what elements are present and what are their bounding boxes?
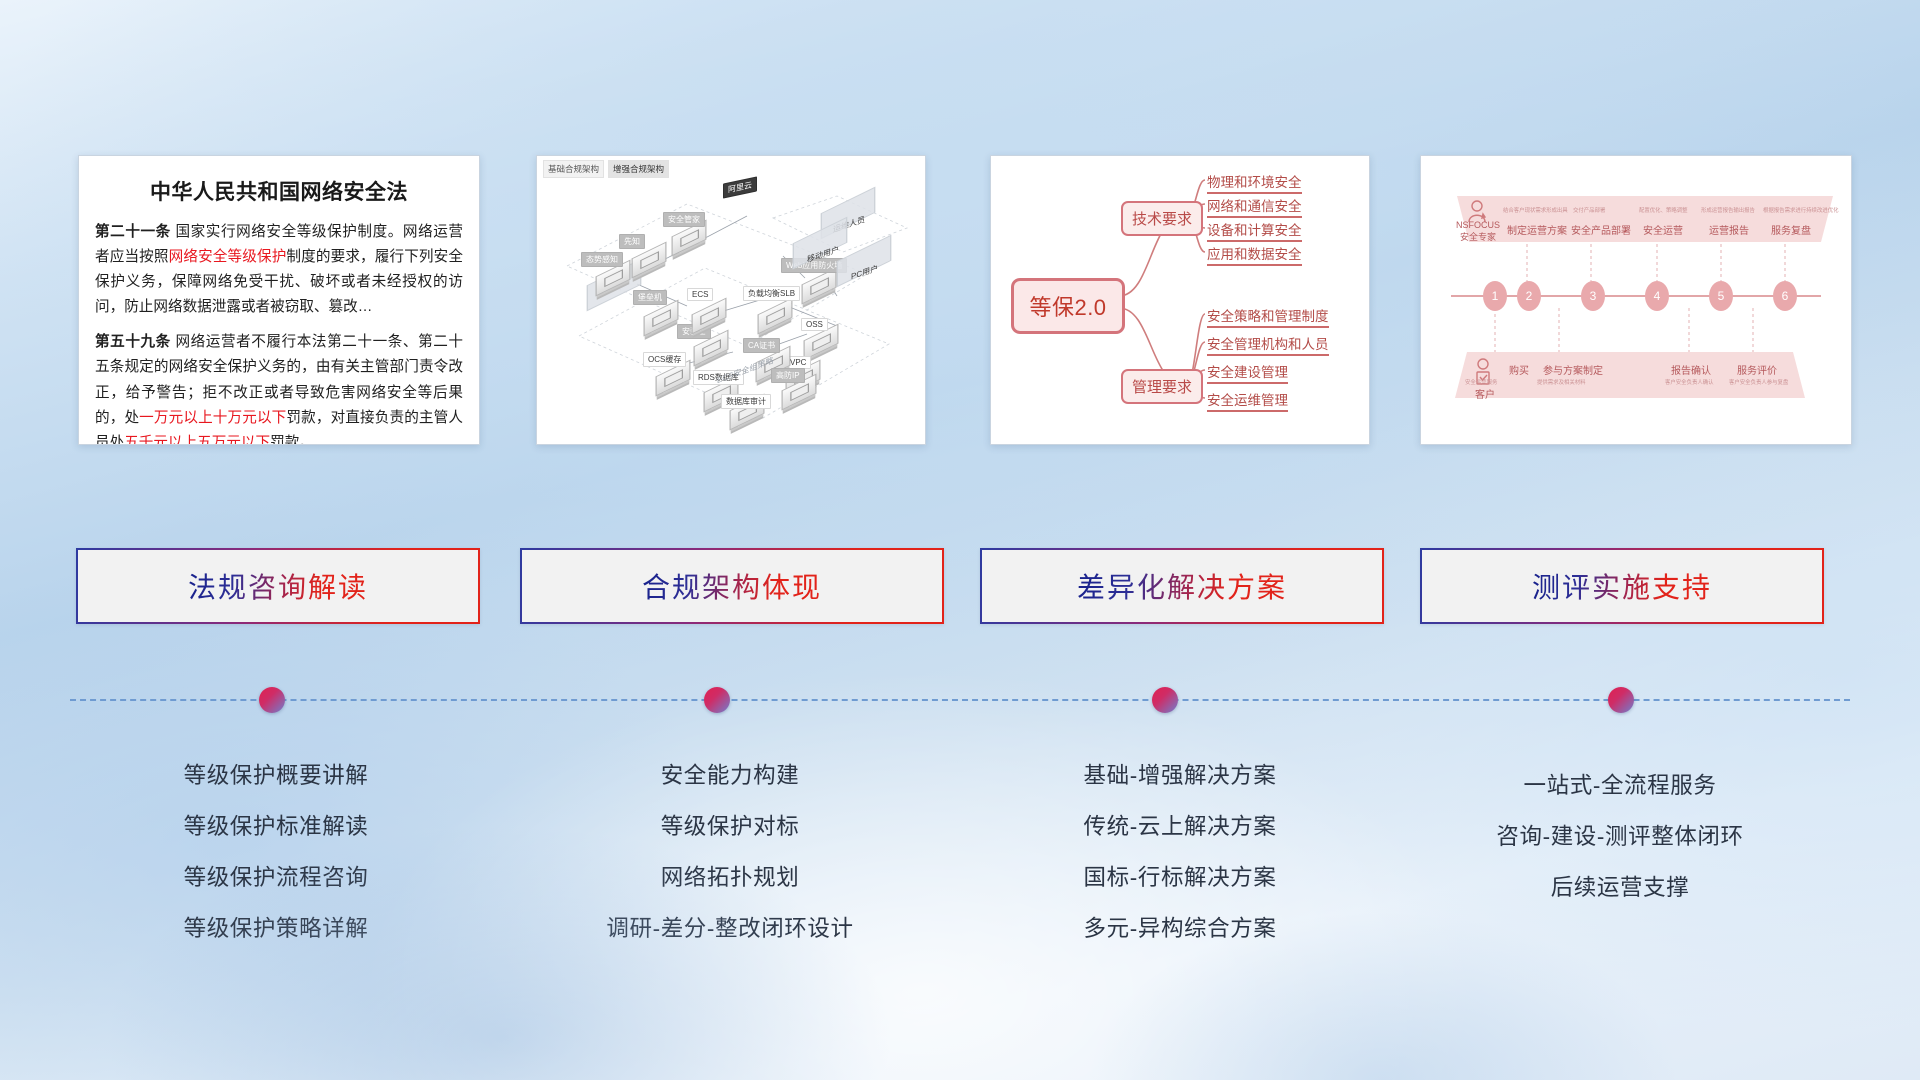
arch-node-slb: 负载均衡SLB [743, 286, 800, 301]
law-article-21-number: 第二十一条 [95, 224, 171, 240]
architecture-diagram: 基础合规架构 增强合规架构 [537, 156, 925, 444]
flow-top-main-3: 安全运营 [1643, 222, 1683, 237]
section-list-3: 基础-增强解决方案 传统-云上解决方案 国标-行标解决方案 多元-异构综合方案 [980, 750, 1380, 954]
law-card-body: 第二十一条 国家实行网络安全等级保护制度。网络运营者应当按照网络安全等级保护制度… [79, 220, 479, 445]
flow-step-4: 4 [1645, 281, 1669, 311]
section-heading-box-4[interactable]: 测评实施支持 [1420, 548, 1824, 624]
section-list-4: 一站式-全流程服务 咨询-建设-测评整体闭环 后续运营支撑 [1420, 760, 1820, 913]
flow-top-main-4: 运营报告 [1709, 222, 1749, 237]
list-item: 等级保护策略详解 [76, 903, 476, 954]
flow-step-1: 1 [1483, 281, 1507, 311]
flow-top-main-2: 安全产品部署 [1571, 222, 1631, 237]
mindmap-leaf-operations-mgmt: 安全运维管理 [1207, 389, 1288, 412]
card-cloud-architecture[interactable]: 基础合规架构 增强合规架构 [536, 155, 926, 445]
mindmap-root-node: 等保2.0 [1011, 278, 1125, 334]
timeline-dot-4[interactable] [1608, 687, 1634, 713]
section-heading-box-3[interactable]: 差异化解决方案 [980, 548, 1384, 624]
flow-top-main-1: 制定运营方案 [1507, 222, 1567, 237]
flow-top-small-3: 配置优化、策略调整 [1639, 206, 1688, 214]
arch-node-security-butler: 安全管家 [663, 212, 705, 227]
flow-top-small-4: 形成运营报告输出报告 [1701, 206, 1755, 214]
list-item: 传统-云上解决方案 [980, 801, 1380, 852]
law-article-21: 第二十一条 国家实行网络安全等级保护制度。网络运营者应当按照网络安全等级保护制度… [95, 220, 463, 320]
arch-node-ocs-cache: OCS缓存 [643, 352, 686, 367]
mindmap-leaf-device-computing: 设备和计算安全 [1207, 219, 1302, 242]
section-heading-1: 法规咨询解读 [188, 566, 368, 606]
flow-step-3: 3 [1581, 281, 1605, 311]
list-item: 后续运营支撑 [1420, 862, 1820, 913]
list-item: 等级保护对标 [520, 801, 940, 852]
arch-node-situational-awareness: 态势感知 [581, 252, 623, 267]
section-heading-2: 合规架构体现 [642, 566, 822, 606]
flow-bottom-small-3: 客户安全负责人确认 [1665, 378, 1714, 386]
section-heading-box-2[interactable]: 合规架构体现 [520, 548, 944, 624]
card-service-flow[interactable]: 1 2 3 4 5 6 NSFOCUS 安全专家 结合客户现状需求形成出具 制定… [1420, 155, 1852, 445]
slide-canvas: 中华人民共和国网络安全法 第二十一条 国家实行网络安全等级保护制度。网络运营者应… [0, 0, 1920, 1080]
law-article-59: 第五十九条 网络运营者不履行本法第二十一条、第二十五条规定的网络安全保护义务的，… [95, 330, 463, 445]
section-list-2: 安全能力构建 等级保护对标 网络拓扑规划 调研-差分-整改闭环设计 [520, 750, 940, 954]
list-item: 等级保护流程咨询 [76, 852, 476, 903]
arch-node-xianzhi: 先知 [619, 234, 645, 249]
flow-actor-nsfocus-line2: 安全专家 [1453, 232, 1503, 243]
mindmap-leaf-policy-system: 安全策略和管理制度 [1207, 305, 1329, 328]
flow-actor-nsfocus-line1: NSFOCUS [1453, 220, 1503, 231]
section-heading-box-1[interactable]: 法规咨询解读 [76, 548, 480, 624]
card-cybersecurity-law[interactable]: 中华人民共和国网络安全法 第二十一条 国家实行网络安全等级保护制度。网络运营者应… [78, 155, 480, 445]
mindmap-leaf-org-personnel: 安全管理机构和人员 [1207, 333, 1329, 356]
section-heading-4: 测评实施支持 [1532, 566, 1712, 606]
list-item: 基础-增强解决方案 [980, 750, 1380, 801]
timeline-dot-1[interactable] [259, 687, 285, 713]
flow-bottom-main-4: 服务评价 [1737, 362, 1777, 377]
arch-node-ecs: ECS [687, 288, 713, 301]
flow-step-2: 2 [1517, 281, 1541, 311]
mindmap-branch-management: 管理要求 [1121, 369, 1203, 404]
mindmap-branch-technical: 技术要求 [1121, 201, 1203, 236]
mindmap-leaf-physical-environment: 物理和环境安全 [1207, 171, 1302, 194]
law-article-59-number: 第五十九条 [95, 334, 171, 350]
arch-node-high-defense-ip: 高防IP [771, 368, 805, 383]
list-item: 一站式-全流程服务 [1420, 760, 1820, 811]
arch-node-bastion-host: 堡垒机 [633, 290, 667, 305]
arch-node-oss: OSS [801, 318, 828, 331]
flow-actor-customer: 客户 [1475, 386, 1495, 401]
list-item: 咨询-建设-测评整体闭环 [1420, 811, 1820, 862]
flow-top-small-2: 交付产品部署 [1573, 206, 1605, 214]
list-item: 国标-行标解决方案 [980, 852, 1380, 903]
flow-step-5: 5 [1709, 281, 1733, 311]
mindmap-leaf-application-data: 应用和数据安全 [1207, 243, 1302, 266]
section-list-1: 等级保护概要讲解 等级保护标准解读 等级保护流程咨询 等级保护策略详解 [76, 750, 476, 954]
list-item: 等级保护概要讲解 [76, 750, 476, 801]
arch-node-ca-cert: CA证书 [743, 338, 780, 353]
flow-top-main-5: 服务复盘 [1771, 222, 1811, 237]
flow-top-small-5: 根据报告需求进行持续改进优化 [1763, 206, 1838, 214]
list-item: 安全能力构建 [520, 750, 940, 801]
mindmap-leaf-construction-mgmt: 安全建设管理 [1207, 361, 1288, 384]
flow-bottom-small-2: 提供需求及相关材料 [1537, 378, 1586, 386]
timeline-dot-3[interactable] [1152, 687, 1178, 713]
mindmap-leaf-network-communication: 网络和通信安全 [1207, 195, 1302, 218]
flow-bottom-main-3: 报告确认 [1671, 362, 1711, 377]
law-59-seg-4: 罚款。 [270, 435, 314, 445]
law-21-seg-1: 网络安全等级保护 [169, 249, 287, 265]
list-item: 调研-差分-整改闭环设计 [520, 903, 940, 954]
list-item: 多元-异构综合方案 [980, 903, 1380, 954]
timeline-dot-2[interactable] [704, 687, 730, 713]
flow-bottom-small-1: 安全运营服务 [1465, 378, 1497, 386]
arch-node-db-audit: 数据库审计 [721, 394, 771, 409]
flow-bottom-main-1: 购买 [1509, 362, 1529, 377]
card-mindmap-dengbao[interactable]: 等保2.0 技术要求 物理和环境安全 网络和通信安全 设备和计算安全 应用和数据… [990, 155, 1370, 445]
flow-bottom-main-2: 参与方案制定 [1543, 362, 1603, 377]
timeline-axis [70, 699, 1850, 703]
flow-bottom-small-4: 客户安全负责人参与复盘 [1729, 378, 1788, 386]
law-59-seg-3: 五千元以上五万元以下 [124, 435, 270, 445]
flow-step-6: 6 [1773, 281, 1797, 311]
section-heading-3: 差异化解决方案 [1077, 566, 1287, 606]
flow-top-small-1: 结合客户现状需求形成出具 [1503, 206, 1568, 214]
list-item: 等级保护标准解读 [76, 801, 476, 852]
law-card-title: 中华人民共和国网络安全法 [79, 176, 479, 206]
law-59-seg-1: 一万元以上十万元以下 [139, 410, 286, 426]
list-item: 网络拓扑规划 [520, 852, 940, 903]
